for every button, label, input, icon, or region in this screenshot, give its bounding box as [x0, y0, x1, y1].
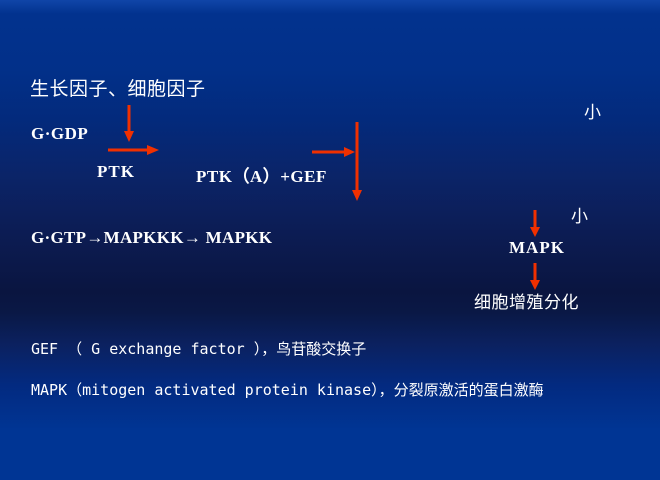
arrow-down-long-right-icon	[349, 122, 365, 202]
cell-proliferation-label: 细胞增殖分化	[474, 288, 579, 313]
slide-canvas: 生长因子、细胞因子 G·GDP PTK PTK（A）+GEF G·GTP→MAP…	[0, 0, 660, 480]
arrow-down-to-ptk-icon	[121, 105, 137, 143]
mapkkk-cascade-label: G·GTP→MAPKKK→ MAPKK	[31, 228, 272, 248]
g-gdp-label: G·GDP	[31, 124, 88, 144]
small-annotation-2: 小	[571, 202, 588, 227]
ptk-active-gef-label: PTK（A）+GEF	[196, 162, 327, 187]
growth-factors-label: 生长因子、细胞因子	[30, 74, 206, 101]
arrow-right-ptk-to-ptk-active-icon	[108, 143, 160, 157]
arrow-down-to-proliferation-icon	[527, 263, 543, 291]
legend-gef-definition: GEF （ G exchange factor ），鸟苷酸交换子	[31, 338, 366, 359]
mapk-label: MAPK	[509, 238, 565, 258]
ptk-label: PTK	[97, 162, 135, 182]
arrow-down-to-mapk-icon	[527, 210, 543, 238]
small-annotation-1: 小	[584, 98, 601, 123]
legend-mapk-definition: MAPK（mitogen activated protein kinase），分…	[31, 379, 544, 400]
